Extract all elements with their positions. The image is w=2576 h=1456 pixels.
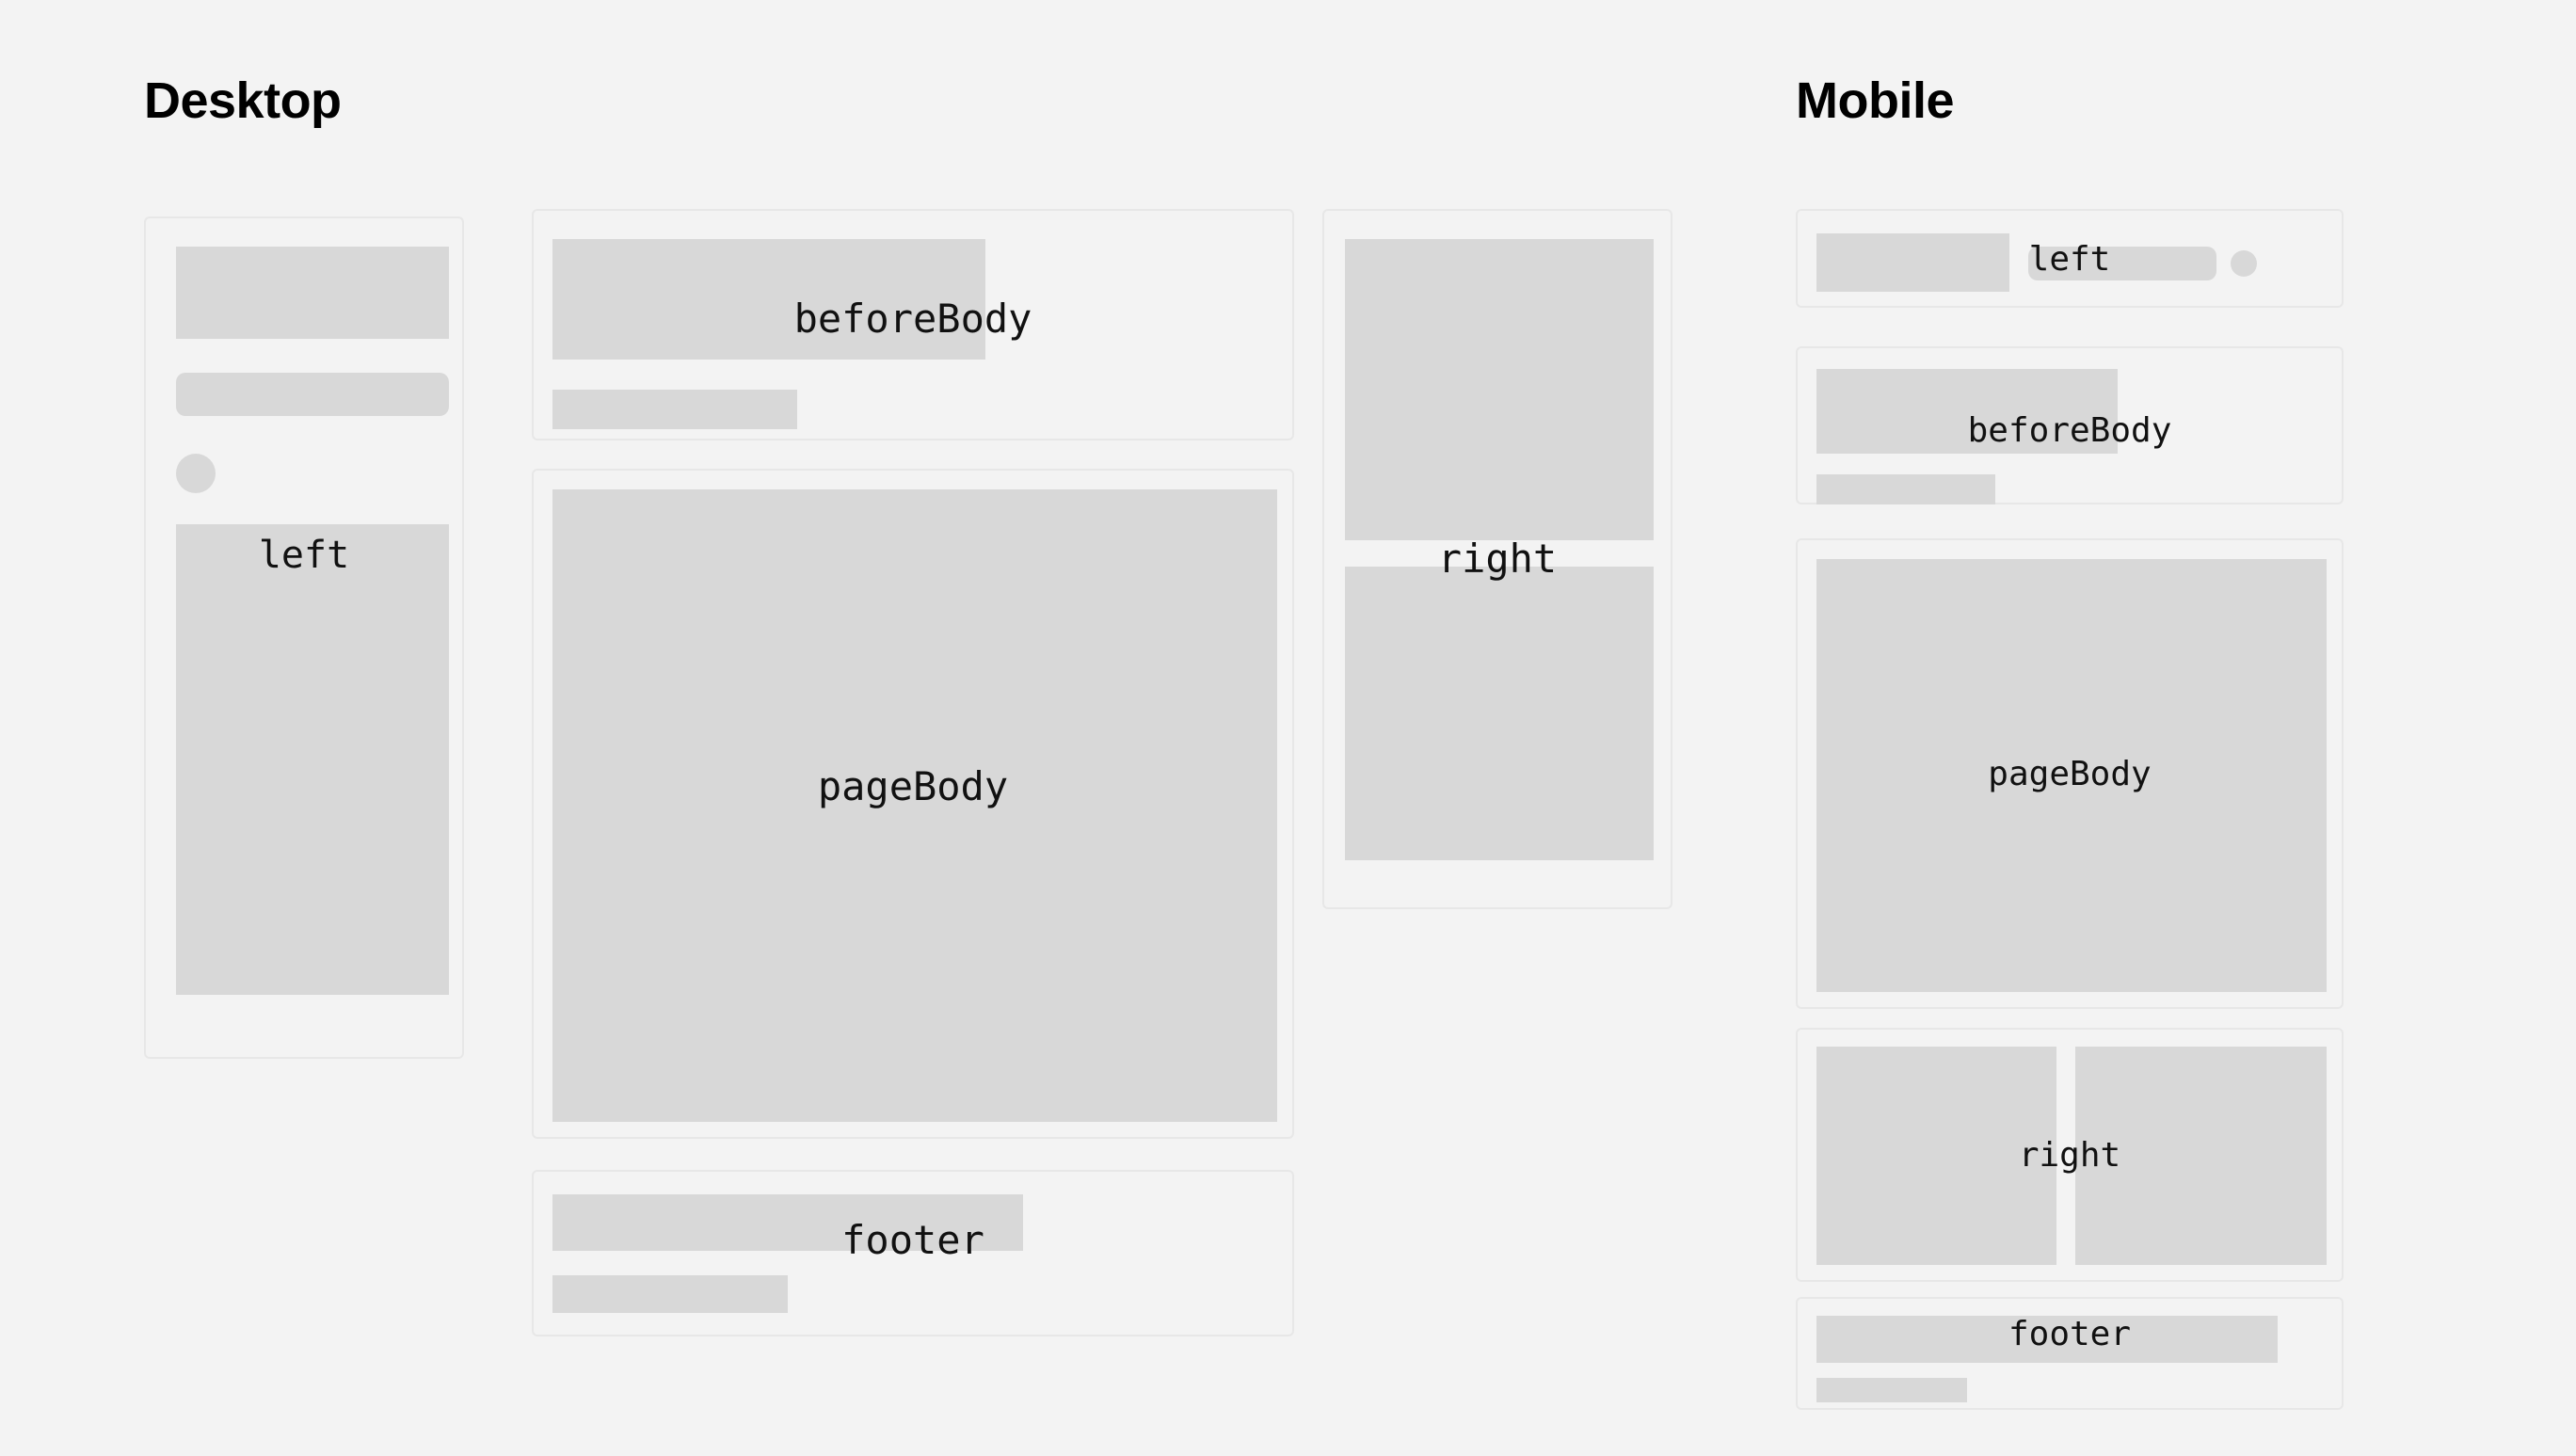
mobile-left-placeholder-block bbox=[1816, 233, 2009, 292]
desktop-footer-placeholder-bar bbox=[552, 1275, 788, 1313]
mobile-beforebody-slot-panel[interactable] bbox=[1796, 346, 2344, 504]
desktop-left-slot-panel[interactable] bbox=[144, 216, 464, 1059]
desktop-pagebody-slot-panel[interactable] bbox=[532, 469, 1294, 1139]
mobile-beforebody-placeholder-bar bbox=[1816, 474, 1995, 504]
desktop-left-placeholder-block bbox=[176, 247, 449, 339]
desktop-right-slot-panel[interactable] bbox=[1322, 209, 1672, 909]
desktop-footer-placeholder-block bbox=[552, 1194, 1023, 1251]
desktop-pagebody-placeholder-block bbox=[552, 489, 1277, 1122]
desktop-right-placeholder-block-bottom bbox=[1345, 567, 1654, 860]
desktop-beforebody-placeholder-bar bbox=[552, 390, 797, 429]
mobile-section-heading: Mobile bbox=[1796, 75, 1954, 126]
mobile-footer-slot-panel[interactable] bbox=[1796, 1297, 2344, 1410]
desktop-beforebody-slot-panel[interactable] bbox=[532, 209, 1294, 440]
desktop-footer-slot-panel[interactable] bbox=[532, 1170, 1294, 1336]
desktop-section-heading: Desktop bbox=[144, 75, 342, 126]
mobile-right-placeholder-block-right bbox=[2075, 1047, 2327, 1265]
desktop-right-placeholder-block-top bbox=[1345, 239, 1654, 540]
mobile-left-slot-panel[interactable] bbox=[1796, 209, 2344, 308]
mobile-pagebody-placeholder-block bbox=[1816, 559, 2327, 992]
mobile-right-slot-panel[interactable] bbox=[1796, 1028, 2344, 1282]
desktop-left-placeholder-bar bbox=[176, 373, 449, 416]
mobile-right-placeholder-block-left bbox=[1816, 1047, 2056, 1265]
mobile-pagebody-slot-panel[interactable] bbox=[1796, 538, 2344, 1009]
mobile-left-avatar-circle-icon bbox=[2231, 250, 2257, 277]
desktop-beforebody-placeholder-block bbox=[552, 239, 985, 360]
mobile-left-placeholder-bar bbox=[2028, 247, 2216, 280]
desktop-left-avatar-circle-icon bbox=[176, 454, 216, 493]
desktop-left-placeholder-panel bbox=[176, 524, 449, 995]
mobile-beforebody-placeholder-block bbox=[1816, 369, 2118, 454]
mobile-footer-placeholder-block bbox=[1816, 1316, 2278, 1363]
responsive-layout-preview: Desktop left beforeBody pageBody footer … bbox=[0, 0, 2576, 1456]
mobile-footer-placeholder-bar bbox=[1816, 1378, 1967, 1402]
